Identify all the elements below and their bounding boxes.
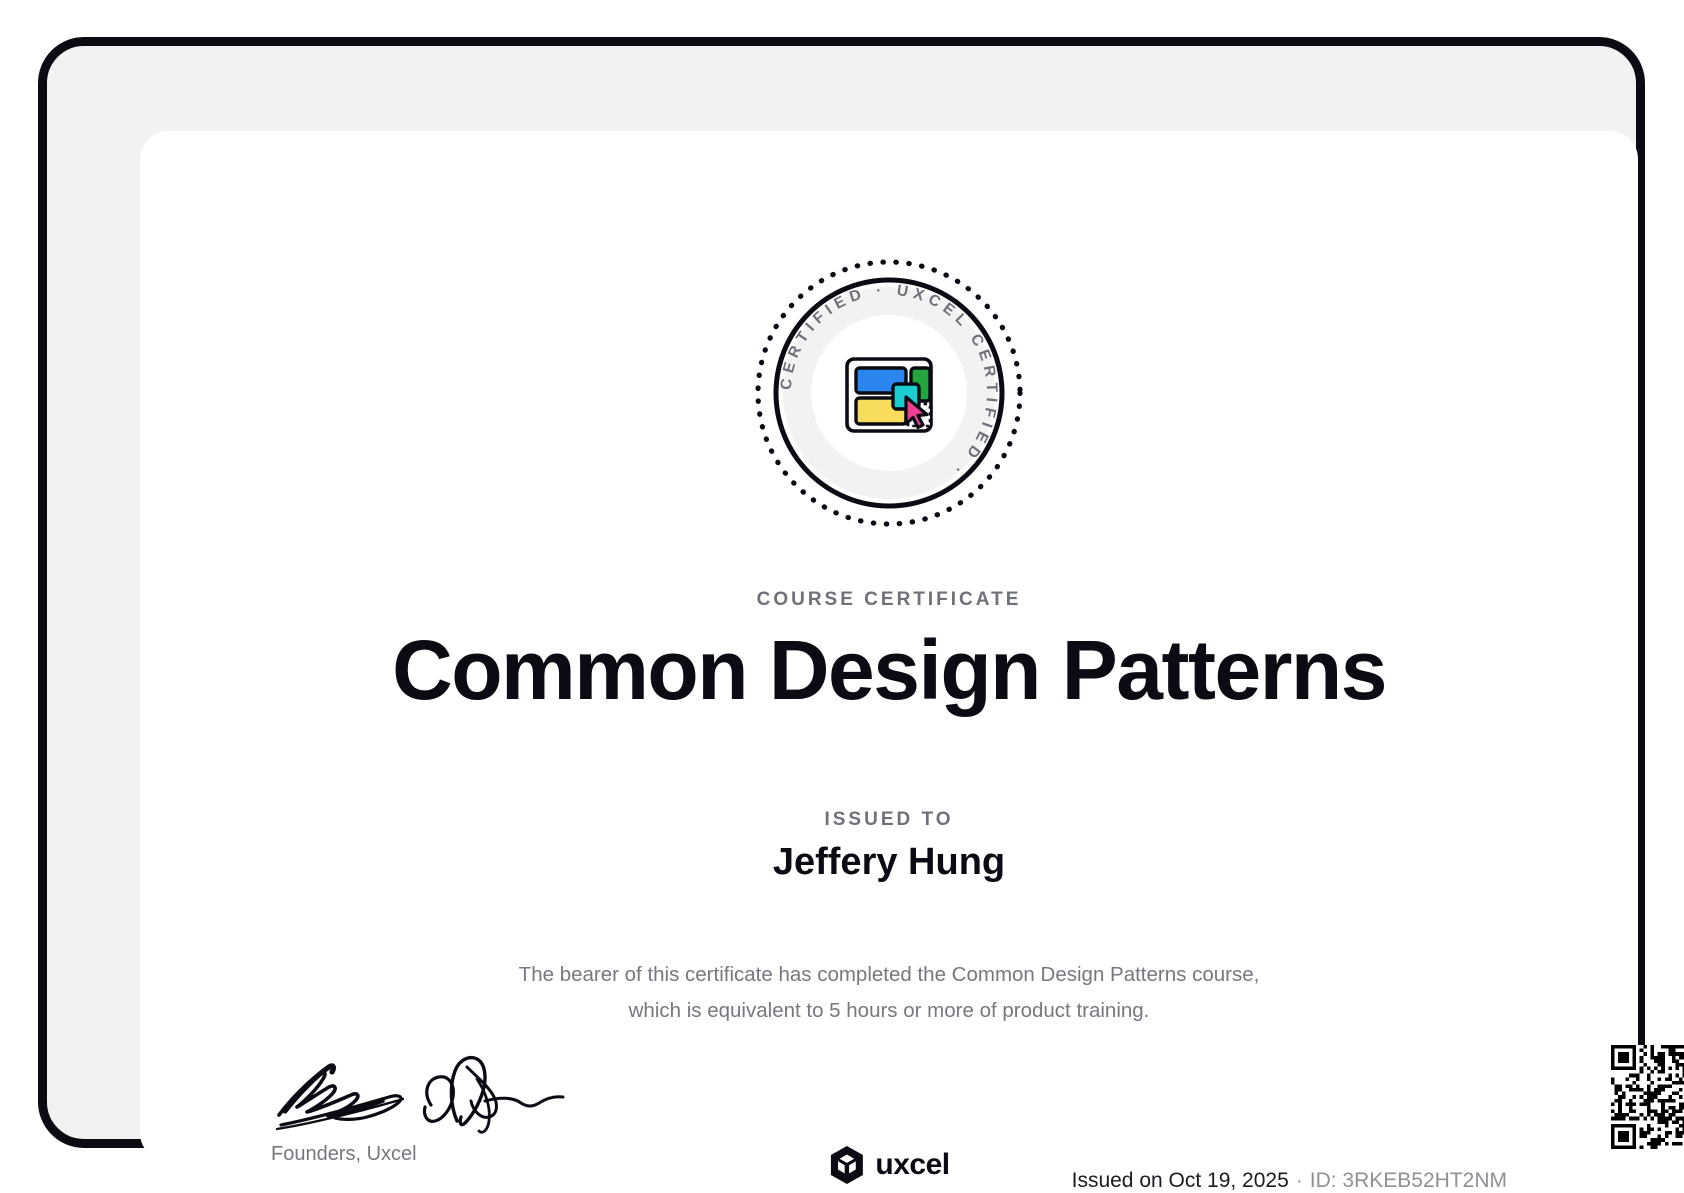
signature-block: Founders, Uxcel — [271, 1049, 571, 1169]
issue-info-separator: · — [1289, 1169, 1310, 1192]
certificate-card: UXCEL CERTIFIED · UXCEL CERTIFIED · — [140, 131, 1638, 1161]
design-patterns-window-icon — [847, 359, 931, 431]
uxcel-brand: uxcel — [828, 1145, 949, 1185]
uxcel-certified-seal: UXCEL CERTIFIED · UXCEL CERTIFIED · — [751, 255, 1027, 531]
certificate-description: The bearer of this certificate has compl… — [494, 957, 1284, 1029]
course-certificate-eyebrow: COURSE CERTIFICATE — [140, 589, 1638, 611]
certificate-outer-frame: UXCEL CERTIFIED · UXCEL CERTIFIED · — [38, 37, 1645, 1148]
issued-to-eyebrow: ISSUED TO — [140, 809, 1638, 831]
recipient-name: Jeffery Hung — [140, 841, 1638, 884]
certificate-title: Common Design Patterns — [140, 623, 1638, 717]
founder-signatures — [271, 1049, 571, 1149]
issue-info: Issued on Oct 19, 2025·ID: 3RKEB52HT2NM — [1072, 1169, 1507, 1193]
signature-label: Founders, Uxcel — [271, 1143, 417, 1166]
issued-on-date: Issued on Oct 19, 2025 — [1072, 1169, 1289, 1192]
credential-id: ID: 3RKEB52HT2NM — [1310, 1169, 1507, 1192]
uxcel-wordmark: uxcel — [875, 1150, 949, 1180]
uxcel-hexagon-cube-logo — [828, 1145, 865, 1185]
verification-qr-code[interactable] — [1611, 1045, 1684, 1149]
